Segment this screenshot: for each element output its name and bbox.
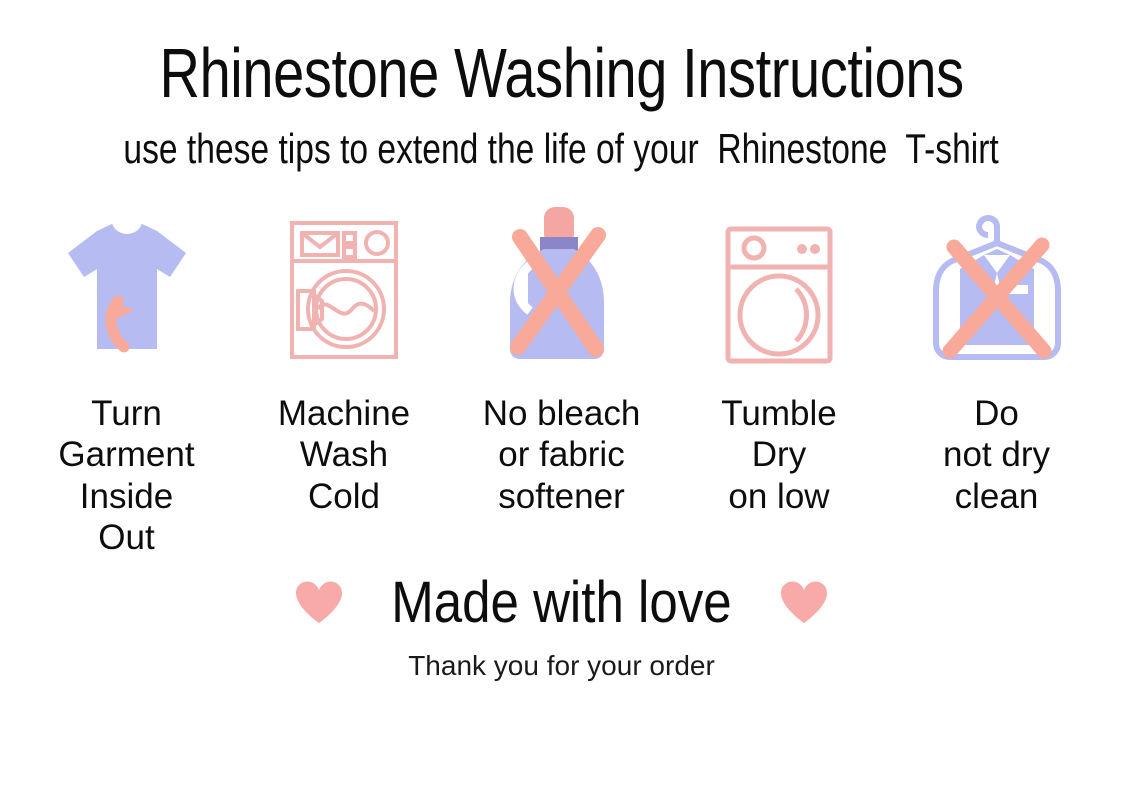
made-with-love-text: Made with love <box>391 574 731 632</box>
tshirt-inside-out-icon <box>52 209 202 369</box>
caption-row: Turn Garment Inside Out Machine Wash Col… <box>32 393 1092 558</box>
icon-cell-turn-inside-out <box>32 204 222 369</box>
washing-machine-icon <box>274 209 414 369</box>
caption-machine-wash-cold: Machine Wash Cold <box>249 393 439 517</box>
icon-cell-machine-wash-cold <box>249 204 439 369</box>
tumble-dryer-icon <box>714 219 844 369</box>
icon-cell-tumble-dry-low <box>684 204 874 369</box>
icon-cell-no-dry-clean <box>902 204 1092 369</box>
care-instructions-card: Rhinestone Washing Instructions use thes… <box>0 0 1123 794</box>
page-title: Rhinestone Washing Instructions <box>159 0 963 108</box>
caption-turn-inside-out: Turn Garment Inside Out <box>32 393 222 558</box>
icon-row <box>32 204 1092 369</box>
caption-tumble-dry-low: Tumble Dry on low <box>684 393 874 517</box>
thank-you-text: Thank you for your order <box>408 650 715 682</box>
caption-no-bleach: No bleach or fabric softener <box>467 393 657 517</box>
caption-no-dry-clean: Do not dry clean <box>902 393 1092 517</box>
page-subtitle: use these tips to extend the life of you… <box>124 108 999 170</box>
heart-icon-left <box>296 581 342 625</box>
no-bleach-bottle-icon <box>492 199 632 369</box>
no-dry-clean-hanger-icon <box>922 199 1072 369</box>
heart-icon-right <box>781 581 827 625</box>
made-with-love-row: Made with love <box>296 574 827 632</box>
icon-cell-no-bleach <box>467 204 657 369</box>
